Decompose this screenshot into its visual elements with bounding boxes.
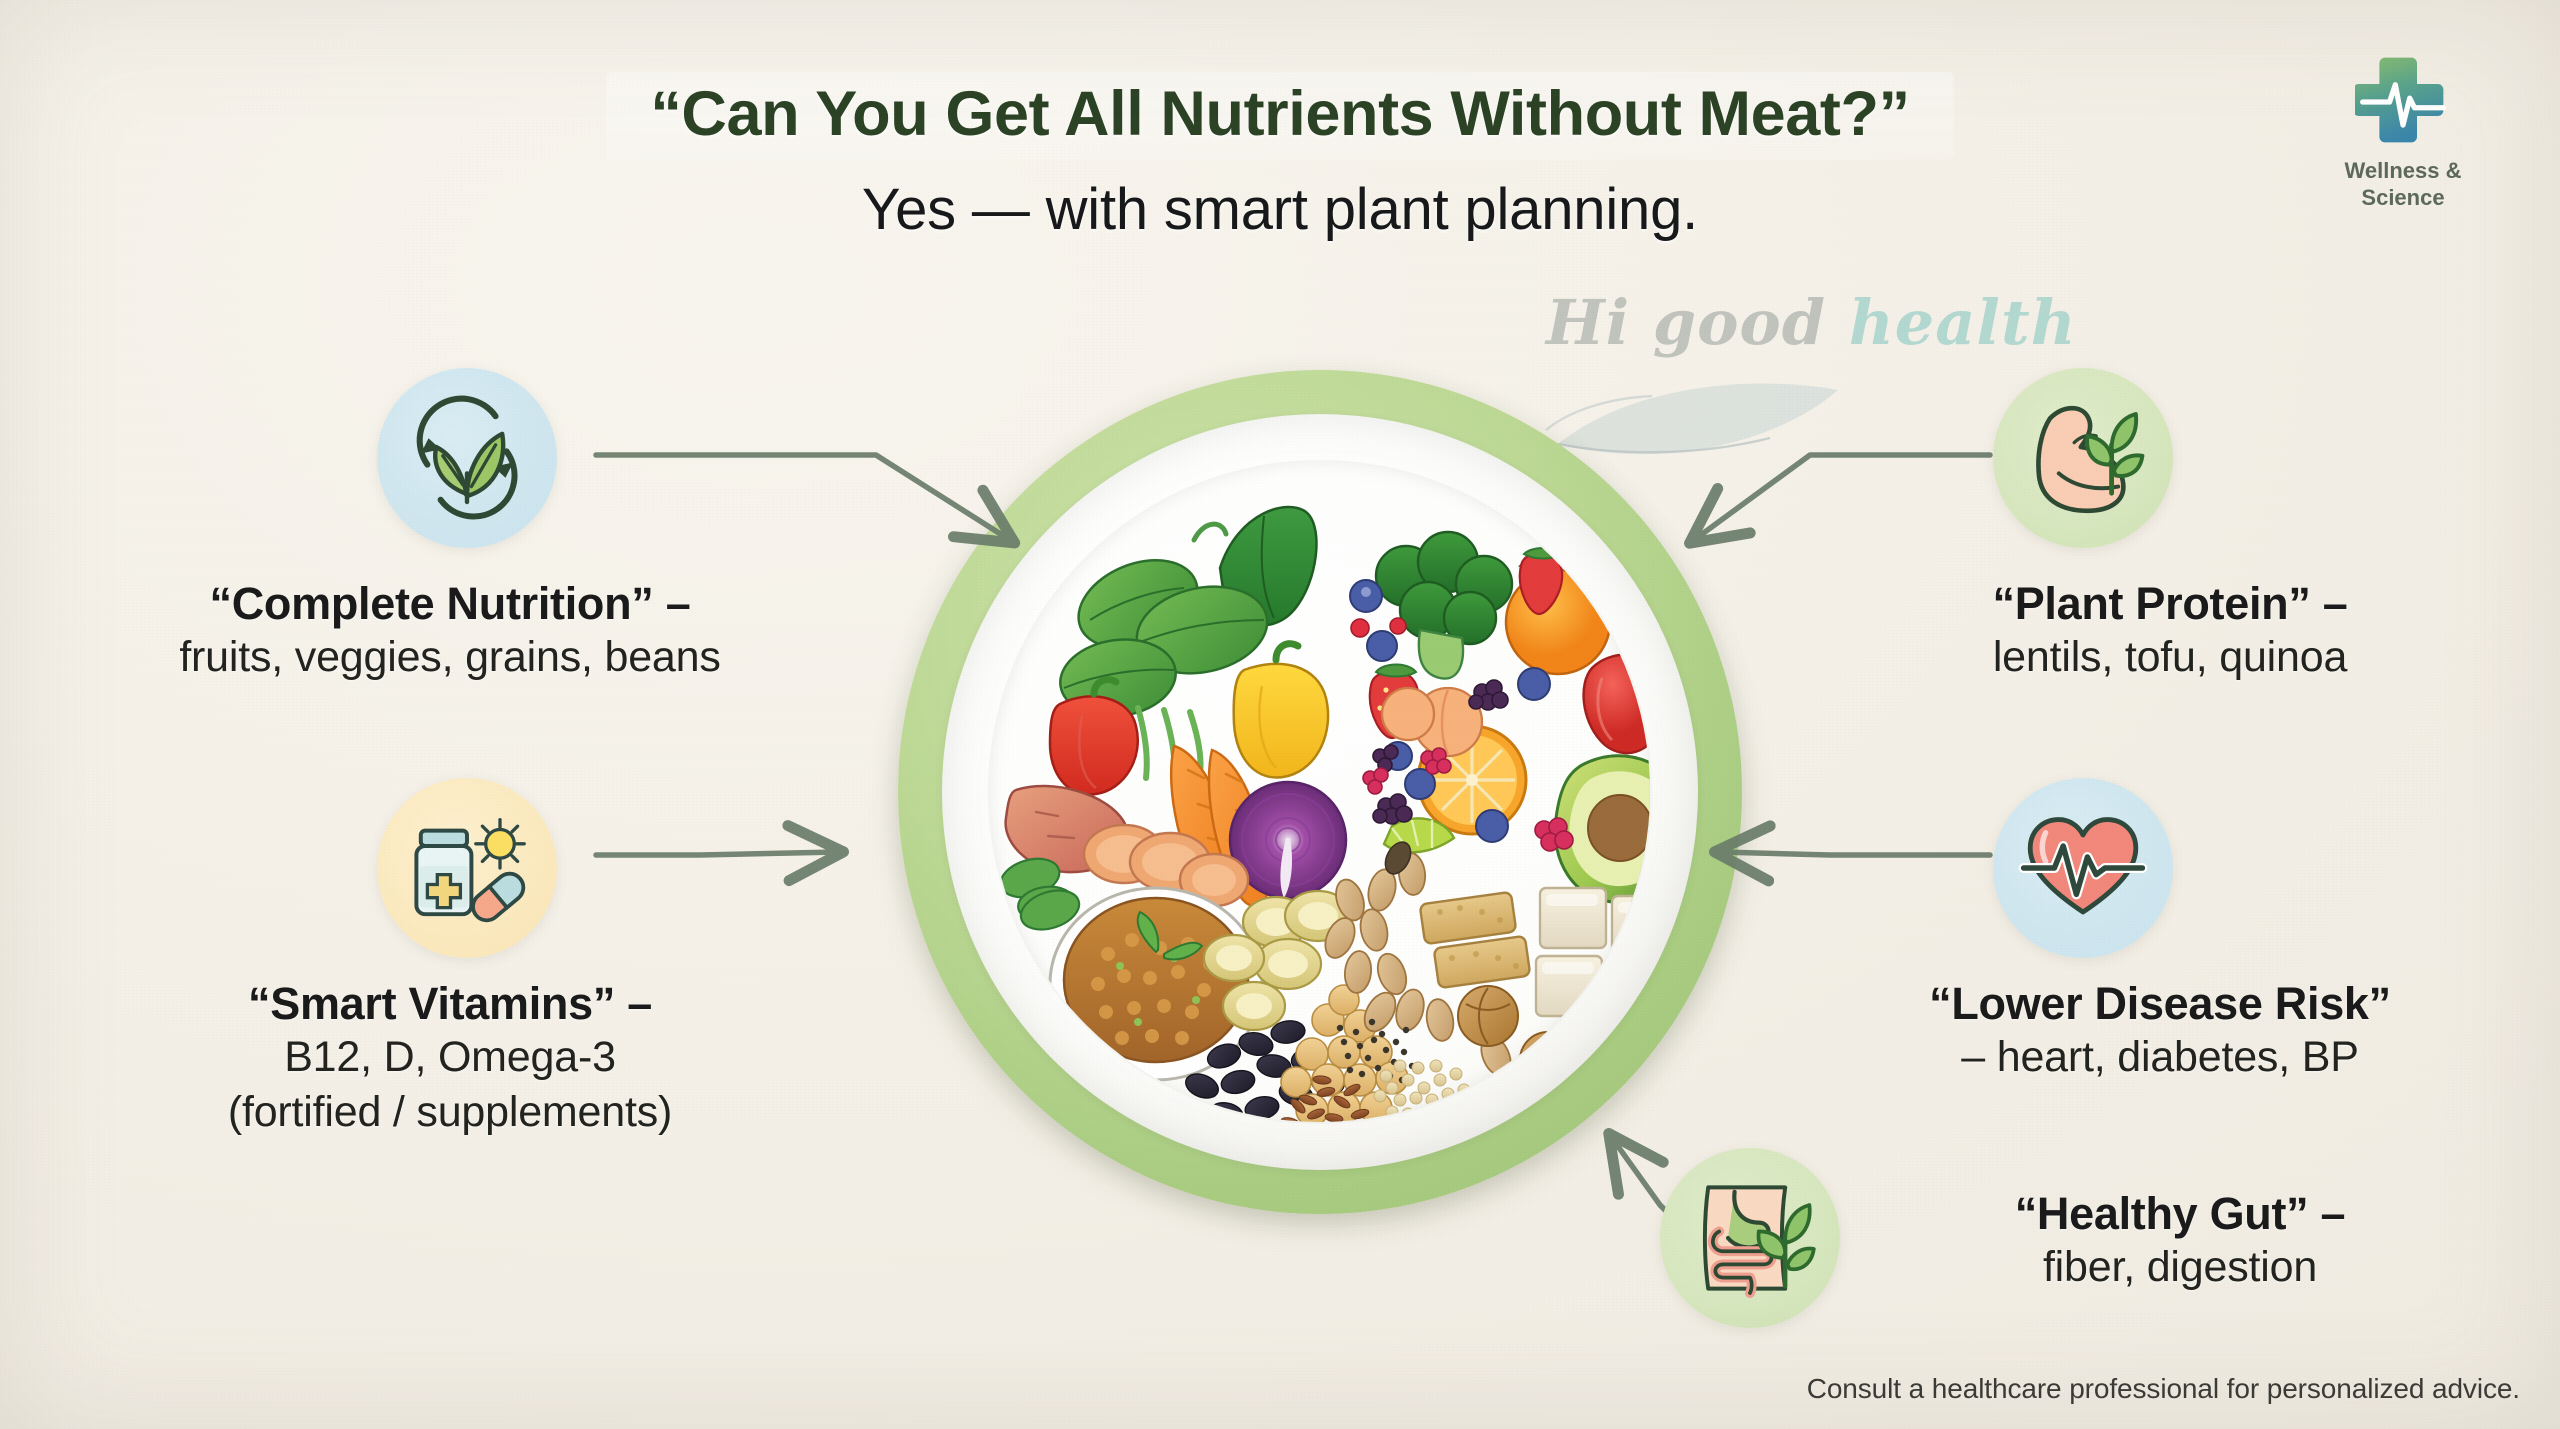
plant-protein-badge[interactable] xyxy=(1993,368,2173,548)
logo-label: Wellness & Science xyxy=(2318,158,2488,212)
logo-label-line2: Science xyxy=(2361,185,2444,210)
supplement-bottle-sun-capsule-icon xyxy=(401,802,533,934)
plant-protein-desc: lentils, tofu, quinoa xyxy=(1810,630,2530,685)
arrow-smart-vitamins xyxy=(596,852,838,855)
header: “Can You Get All Nutrients Without Meat?… xyxy=(0,72,2560,243)
page-subtitle: Yes — with smart plant planning. xyxy=(0,176,2560,243)
smart-vitamins-desc-line1: B12, D, Omega-3 xyxy=(100,1030,800,1085)
complete-nutrition-title: “Complete Nutrition” – xyxy=(100,578,800,630)
smart-vitamins-badge[interactable] xyxy=(377,778,557,958)
plant-protein-title: “Plant Protein” – xyxy=(1810,578,2530,630)
brand-logo[interactable]: Wellness & Science xyxy=(2318,54,2488,212)
page-title: “Can You Get All Nutrients Without Meat?… xyxy=(650,78,1909,150)
flexed-bicep-plant-icon xyxy=(2017,392,2149,524)
medical-cross-heartbeat-icon xyxy=(2355,54,2451,150)
plate-food-illustration xyxy=(988,460,1652,1124)
lower-disease-risk-desc: – heart, diabetes, BP xyxy=(1790,1030,2530,1085)
smart-vitamins-title: “Smart Vitamins” – xyxy=(100,978,800,1030)
heart-heartbeat-icon xyxy=(2017,802,2149,934)
logo-label-line1: Wellness & xyxy=(2345,158,2462,183)
complete-nutrition-badge[interactable] xyxy=(377,368,557,548)
complete-nutrition-text: “Complete Nutrition” – fruits, veggies, … xyxy=(100,578,800,685)
healthy-gut-badge[interactable] xyxy=(1660,1148,1840,1328)
arrow-lower-disease-risk xyxy=(1720,852,1990,855)
healthy-gut-text: “Healthy Gut” – fiber, digestion xyxy=(1830,1188,2530,1295)
smart-vitamins-text: “Smart Vitamins” – B12, D, Omega-3 (fort… xyxy=(100,978,800,1140)
leaf-cycle-icon xyxy=(401,392,533,524)
lower-disease-risk-badge[interactable] xyxy=(1993,778,2173,958)
smart-vitamins-desc-line2: (fortified / supplements) xyxy=(100,1085,800,1140)
watermark-text-teal: health xyxy=(1849,286,2077,359)
quadrant-vegetables xyxy=(996,507,1346,925)
food-plate xyxy=(880,352,1760,1232)
plate-inner-surface xyxy=(988,460,1652,1124)
plant-protein-text: “Plant Protein” – lentils, tofu, quinoa xyxy=(1810,578,2530,685)
healthy-gut-title: “Healthy Gut” – xyxy=(1830,1188,2530,1240)
complete-nutrition-desc: fruits, veggies, grains, beans xyxy=(100,630,800,685)
infographic-canvas: “Can You Get All Nutrients Without Meat?… xyxy=(0,0,2560,1429)
watermark-text-gray: Hi good xyxy=(1546,286,1826,359)
lower-disease-risk-text: “Lower Disease Risk” – heart, diabetes, … xyxy=(1790,978,2530,1085)
watermark-text: Hi good health xyxy=(1546,286,2077,359)
title-band: “Can You Get All Nutrients Without Meat?… xyxy=(606,72,1953,160)
healthy-gut-desc: fiber, digestion xyxy=(1830,1240,2530,1295)
lower-disease-risk-title: “Lower Disease Risk” xyxy=(1790,978,2530,1030)
digestive-system-plant-icon xyxy=(1684,1172,1816,1304)
disclaimer-text: Consult a healthcare professional for pe… xyxy=(1807,1373,2520,1405)
